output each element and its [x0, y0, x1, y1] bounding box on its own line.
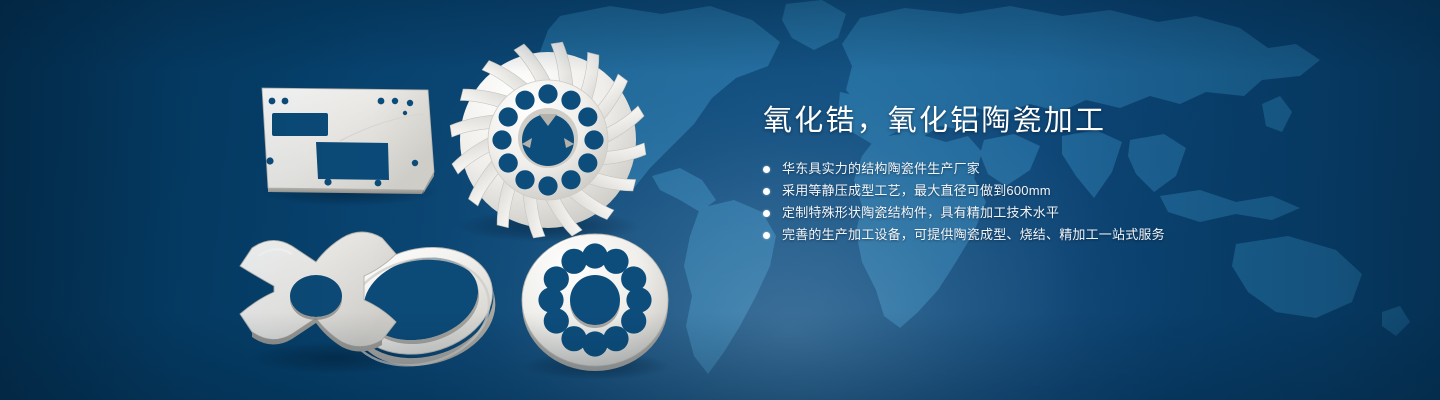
bullet-dot-icon [763, 210, 770, 217]
bullet-dot-icon [763, 166, 770, 173]
list-item: 完善的生产加工设备，可提供陶瓷成型、烧结、精加工一站式服务 [763, 224, 1363, 246]
feature-text: 华东具实力的结构陶瓷件生产厂家 [782, 161, 980, 176]
page-title: 氧化锆，氧化铝陶瓷加工 [763, 104, 1363, 139]
list-item: 采用等静压成型工艺，最大直径可做到600mm [763, 180, 1363, 202]
feature-text: 完善的生产加工设备，可提供陶瓷成型、烧结、精加工一站式服务 [782, 227, 1165, 242]
list-item: 定制特殊形状陶瓷结构件，具有精加工技术水平 [763, 202, 1363, 224]
list-item: 华东具实力的结构陶瓷件生产厂家 [763, 158, 1363, 180]
bullet-dot-icon [763, 188, 770, 195]
ceramic-perforated-disc [522, 234, 668, 371]
feature-text: 采用等静压成型工艺，最大直径可做到600mm [782, 183, 1051, 198]
product-photo-cluster [0, 0, 720, 400]
feature-text: 定制特殊形状陶瓷结构件，具有精加工技术水平 [782, 205, 1059, 220]
hero-banner: 氧化锆，氧化铝陶瓷加工 华东具实力的结构陶瓷件生产厂家 采用等静压成型工艺，最大… [0, 0, 1440, 400]
feature-list: 华东具实力的结构陶瓷件生产厂家 采用等静压成型工艺，最大直径可做到600mm 定… [763, 158, 1363, 246]
banner-copy: 氧化锆，氧化铝陶瓷加工 华东具实力的结构陶瓷件生产厂家 采用等静压成型工艺，最大… [763, 104, 1363, 246]
bullet-dot-icon [763, 232, 770, 239]
ceramic-parts-illustration [0, 0, 720, 400]
ceramic-impeller [446, 38, 649, 241]
ceramic-plate [262, 88, 434, 194]
